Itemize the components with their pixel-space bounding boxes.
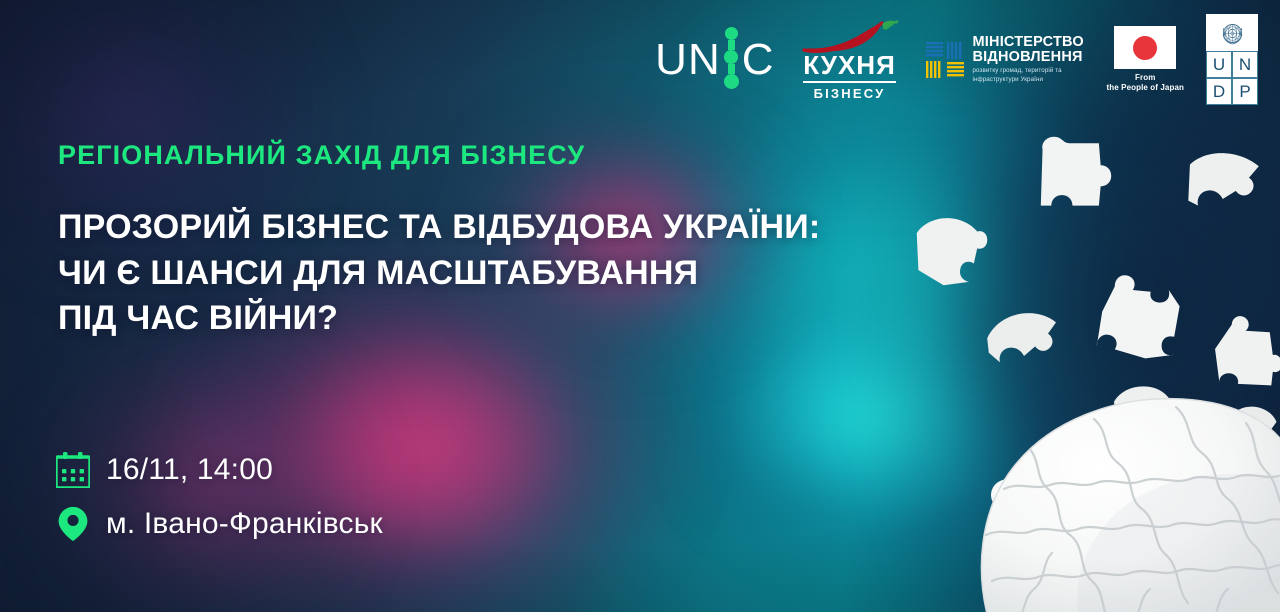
undp-cell-u: U bbox=[1206, 51, 1232, 78]
ministry-logo-text: МІНІСТЕРСТВО ВІДНОВЛЕННЯ розвитку громад… bbox=[973, 35, 1085, 84]
event-title-line-1: ПРОЗОРИЙ БІЗНЕС ТА ВІДБУДОВА УКРАЇНИ: bbox=[58, 205, 820, 251]
unic-logo[interactable]: UN C bbox=[655, 34, 774, 86]
ministry-logo-subtitle: розвитку громад, територій та інфраструк… bbox=[973, 67, 1085, 84]
kuhnya-biznesu-logo[interactable]: КУХНЯ БІЗНЕСУ bbox=[797, 18, 903, 101]
unic-logo-part1: UN bbox=[655, 38, 721, 82]
japan-flag-icon bbox=[1114, 26, 1176, 69]
un-emblem-icon bbox=[1219, 20, 1246, 47]
japan-caption-line2: the People of Japan bbox=[1107, 83, 1184, 93]
undp-cell-d: D bbox=[1206, 78, 1232, 105]
event-banner: UN C КУХНЯ БІЗНЕСУ bbox=[0, 0, 1280, 612]
event-title-line-3: ПІД ЧАС ВІЙНИ? bbox=[58, 296, 820, 342]
partner-logo-bar: UN C КУХНЯ БІЗНЕСУ bbox=[655, 14, 1258, 105]
event-date: 16/11, 14:00 bbox=[106, 453, 273, 487]
undp-logo[interactable]: U N D P bbox=[1206, 14, 1258, 105]
from-the-people-of-japan-logo[interactable]: From the People of Japan bbox=[1107, 26, 1184, 93]
undp-emblem-box bbox=[1206, 14, 1258, 51]
chili-pepper-icon bbox=[800, 20, 900, 54]
undp-cell-n: N bbox=[1232, 51, 1258, 78]
kuhnya-logo-main: КУХНЯ bbox=[803, 52, 896, 83]
unic-logo-part2: C bbox=[742, 38, 775, 82]
event-kicker: РЕГІОНАЛЬНИЙ ЗАХІД ДЛЯ БІЗНЕСУ bbox=[58, 140, 585, 171]
map-pin-icon bbox=[56, 506, 90, 542]
event-title-line-2: ЧИ Є ШАНСИ ДЛЯ МАСШТАБУВАННЯ bbox=[58, 251, 820, 297]
event-location-row: м. Івано-Франківськ bbox=[56, 506, 383, 542]
kuhnya-logo-sub: БІЗНЕСУ bbox=[814, 86, 886, 101]
undp-letter-grid: U N D P bbox=[1206, 51, 1258, 105]
unic-logo-i-icon bbox=[724, 27, 739, 89]
event-date-row: 16/11, 14:00 bbox=[56, 452, 383, 488]
ministry-of-restoration-logo[interactable]: МІНІСТЕРСТВО ВІДНОВЛЕННЯ розвитку громад… bbox=[925, 35, 1085, 84]
ministry-logo-line2: ВІДНОВЛЕННЯ bbox=[973, 50, 1085, 65]
ministry-striped-square-icon bbox=[925, 40, 965, 80]
ministry-logo-line1: МІНІСТЕРСТВО bbox=[973, 35, 1085, 50]
event-title: ПРОЗОРИЙ БІЗНЕС ТА ВІДБУДОВА УКРАЇНИ: ЧИ… bbox=[58, 205, 820, 342]
calendar-icon bbox=[56, 452, 90, 488]
event-meta: 16/11, 14:00 м. Івано-Франківськ bbox=[56, 452, 383, 542]
event-location: м. Івано-Франківськ bbox=[106, 507, 383, 541]
japan-caption-line1: From bbox=[1107, 73, 1184, 83]
undp-cell-p: P bbox=[1232, 78, 1258, 105]
japan-caption: From the People of Japan bbox=[1107, 73, 1184, 93]
